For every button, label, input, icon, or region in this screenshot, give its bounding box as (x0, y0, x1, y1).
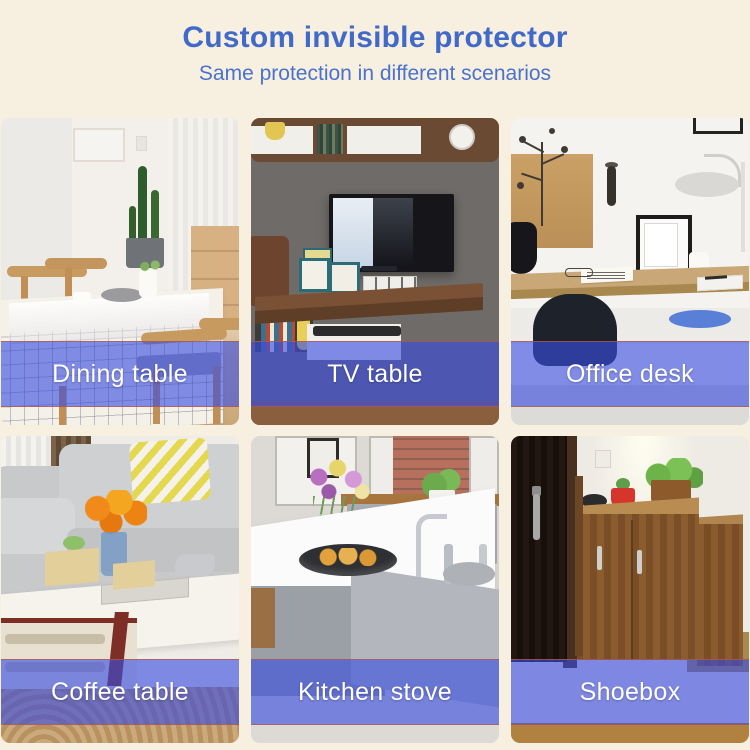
scenario-label-coffee-table: Coffee table (51, 678, 189, 707)
scenario-card-tv-table[interactable]: TV table (251, 118, 499, 425)
scenario-label-kitchen-stove: Kitchen stove (298, 678, 452, 707)
scenario-label-office-desk: Office desk (566, 360, 694, 389)
protector-overlay-band: Coffee table (1, 659, 239, 725)
protector-overlay-band: Kitchen stove (251, 659, 499, 725)
scenario-card-dining-table[interactable]: Dining table (1, 118, 239, 425)
scenario-label-tv-table: TV table (327, 360, 423, 389)
scenario-label-dining-table: Dining table (52, 360, 188, 389)
scenario-card-shoebox[interactable]: Shoebox (511, 436, 749, 743)
page-subtitle: Same protection in different scenarios (0, 63, 750, 85)
protector-overlay-band: TV table (251, 341, 499, 407)
protector-overlay-band: Dining table (1, 341, 239, 407)
scenario-card-kitchen-stove[interactable]: Kitchen stove (251, 436, 499, 743)
page-header: Custom invisible protector Same protecti… (0, 0, 750, 85)
protector-overlay-band: Office desk (511, 341, 749, 407)
scenario-card-office-desk[interactable]: Office desk (511, 118, 749, 425)
scenario-label-shoebox: Shoebox (580, 678, 681, 707)
scenario-gallery-grid: Dining table TV table (0, 118, 750, 750)
scenario-card-coffee-table[interactable]: Coffee table (1, 436, 239, 743)
page-title: Custom invisible protector (0, 22, 750, 54)
protector-overlay-band: Shoebox (511, 659, 749, 725)
